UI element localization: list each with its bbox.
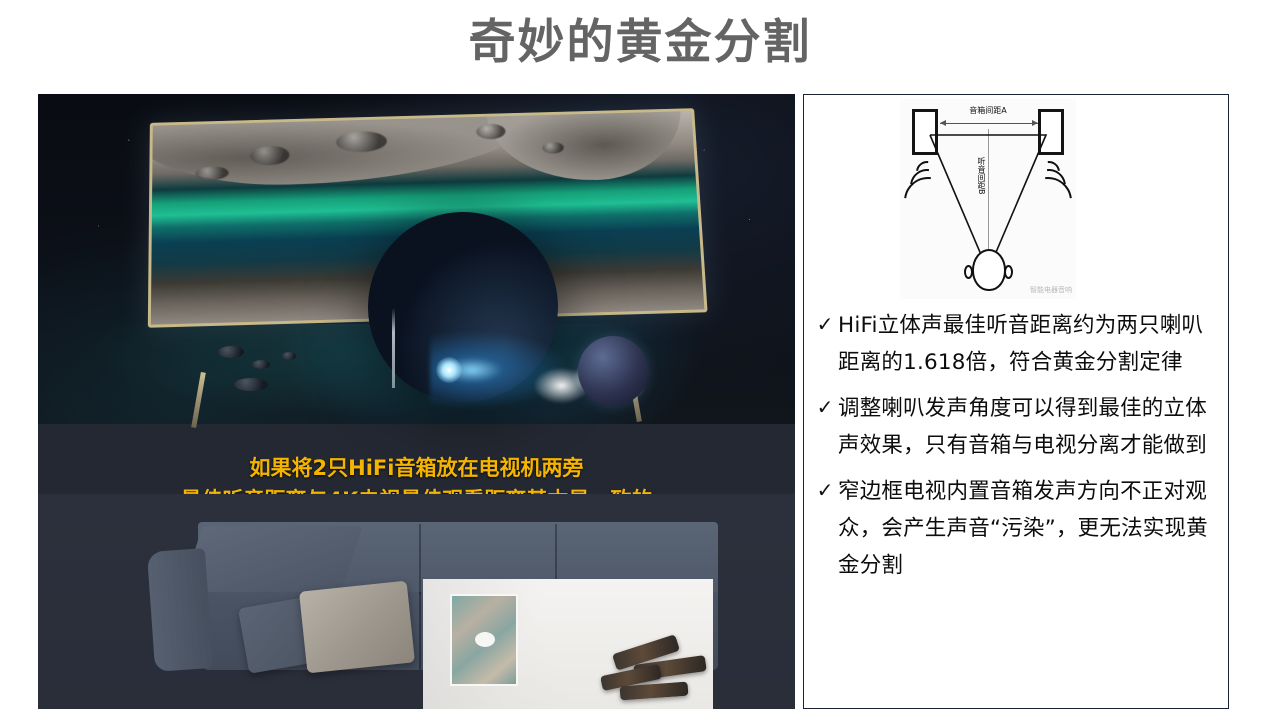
moon-surface-right <box>487 108 685 183</box>
diagram-watermark: 智能电器音响 <box>1030 285 1072 295</box>
sofa-seat-divider <box>419 592 421 670</box>
sofa-back-divider <box>419 524 421 594</box>
flare-core <box>436 357 462 383</box>
debris-rock <box>252 360 270 369</box>
living-room-scene <box>38 494 795 709</box>
space-tv-scene <box>38 94 795 424</box>
small-planet <box>578 336 648 406</box>
tv-living-room-photo: 如果将2只HiFi音箱放在电视机两旁 最佳听音距离与4K电视最佳观看距离基本是一… <box>38 94 795 709</box>
list-item: ✓ HiFi立体声最佳听音距离约为两只喇叭距离的1.618倍，符合黄金分割定律 <box>812 307 1224 381</box>
list-item: ✓ 窄边框电视内置音箱发声方向不正对观众，会产生声音“污染”，更无法实现黄金分割 <box>812 473 1224 584</box>
list-item: ✓ 调整喇叭发声角度可以得到最佳的立体声效果，只有音箱与电视分离才能做到 <box>812 390 1224 464</box>
bullet-list: ✓ HiFi立体声最佳听音距离约为两只喇叭距离的1.618倍，符合黄金分割定律 … <box>812 307 1224 593</box>
debris-rock <box>282 352 296 360</box>
sofa-armrest <box>147 548 213 672</box>
caption-line-1: 如果将2只HiFi音箱放在电视机两旁 <box>38 452 795 484</box>
cushion-gray <box>299 581 415 674</box>
bullet-text: 调整喇叭发声角度可以得到最佳的立体声效果，只有音箱与电视分离才能做到 <box>838 390 1224 464</box>
page-title: 奇妙的黄金分割 <box>0 8 1280 78</box>
vertical-light-beam <box>392 308 395 388</box>
rug-center-dot <box>475 632 495 647</box>
check-icon: ✓ <box>812 473 838 507</box>
bullet-text: HiFi立体声最佳听音距离约为两只喇叭距离的1.618倍，符合黄金分割定律 <box>838 307 1224 381</box>
speaker-placement-diagram: 音箱间距A 听音间距B 智能电器音响 <box>900 99 1076 299</box>
info-panel: 音箱间距A 听音间距B 智能电器音响 ✓ HiFi立体声最佳听音距离约为 <box>803 94 1229 709</box>
check-icon: ✓ <box>812 390 838 424</box>
debris-rock <box>234 378 268 391</box>
debris-rock <box>218 346 244 358</box>
slide: 奇妙的黄金分割 <box>0 0 1280 720</box>
listener-head-icon <box>972 249 1006 291</box>
check-icon: ✓ <box>812 307 838 341</box>
bullet-text: 窄边框电视内置音箱发声方向不正对观众，会产生声音“污染”，更无法实现黄金分割 <box>838 473 1224 584</box>
